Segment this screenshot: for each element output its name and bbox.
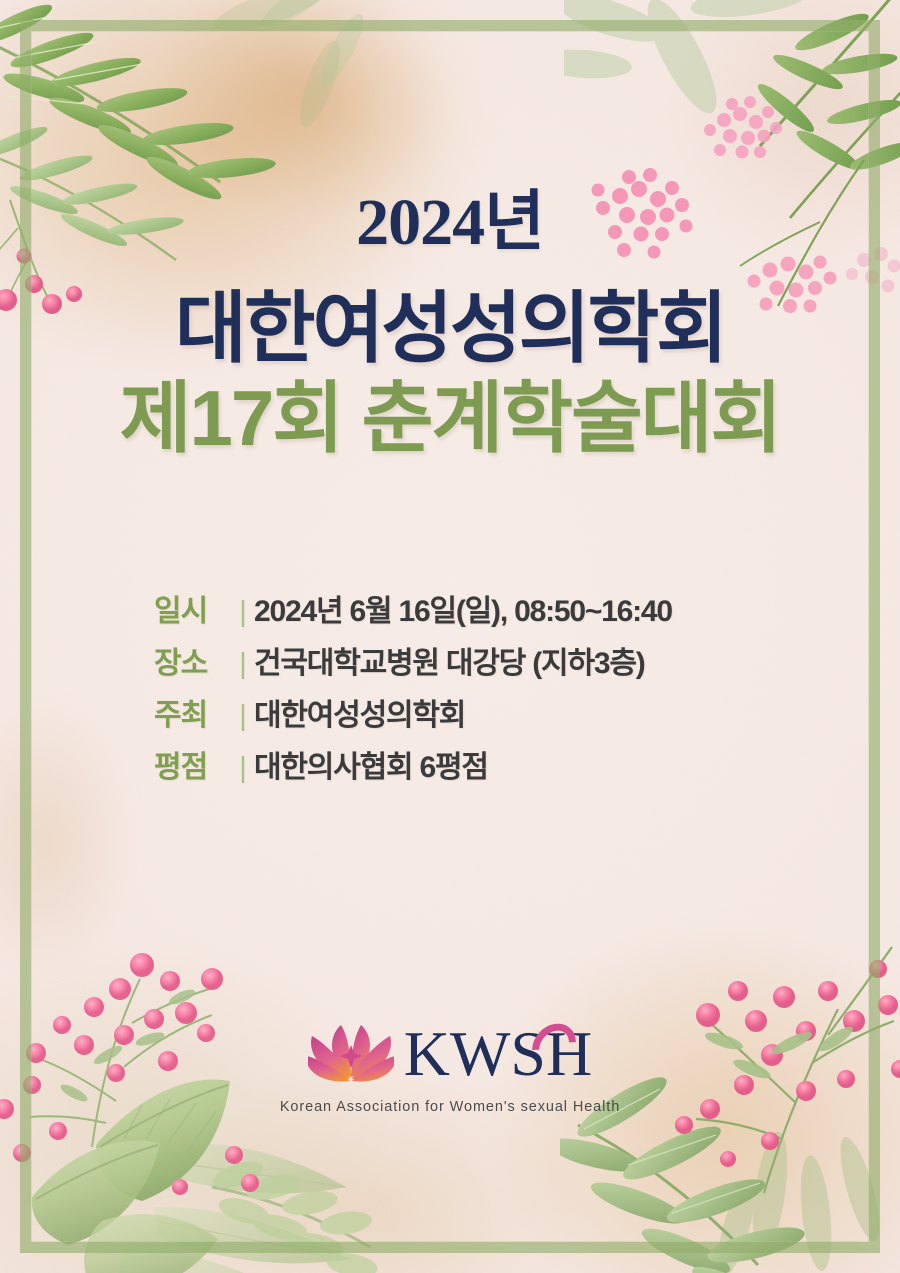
conference-poster: 2024년 대한여성성의학회 제17회 춘계학술대회 일시 | 2024년 6월… [0, 0, 900, 1273]
info-value-credits: 대한의사협회 6평점 [254, 742, 754, 786]
title-organization: 대한여성성의학회 [0, 286, 900, 370]
poster-title-block: 2024년 대한여성성의학회 제17회 춘계학술대회 [0, 190, 900, 462]
info-value-host: 대한여성성의학회 [254, 690, 754, 734]
info-row-venue: 장소 | 건국대학교병원 대강당 (지하3층) [154, 638, 754, 690]
info-value-date: 2024년 6월 16일(일), 08:50~16:40 [254, 586, 754, 630]
info-row-host: 주최 | 대한여성성의학회 [154, 690, 754, 742]
info-separator: | [232, 700, 254, 733]
kwsh-wordmark-text: KWSH [404, 1018, 592, 1089]
kwsh-logo: KWSH Korean Association for Women's sexu… [0, 1018, 900, 1115]
info-separator: | [232, 596, 254, 629]
info-row-date: 일시 | 2024년 6월 16일(일), 08:50~16:40 [154, 586, 754, 638]
info-value-venue: 건국대학교병원 대강당 (지하3층) [254, 638, 754, 682]
info-separator: | [232, 752, 254, 785]
info-label-date: 일시 [154, 586, 232, 630]
title-year: 2024년 [0, 190, 900, 256]
kwsh-wordmark: KWSH [404, 1022, 592, 1086]
info-label-host: 주최 [154, 690, 232, 734]
kwsh-tagline: Korean Association for Women's sexual He… [0, 1099, 900, 1115]
lotus-flower-icon [308, 1021, 394, 1087]
info-row-credits: 평점 | 대한의사협회 6평점 [154, 742, 754, 794]
event-info-list: 일시 | 2024년 6월 16일(일), 08:50~16:40 장소 | 건… [0, 586, 900, 794]
info-separator: | [232, 648, 254, 681]
title-event: 제17회 춘계학술대회 [0, 376, 900, 462]
info-label-venue: 장소 [154, 638, 232, 682]
info-label-credits: 평점 [154, 742, 232, 786]
